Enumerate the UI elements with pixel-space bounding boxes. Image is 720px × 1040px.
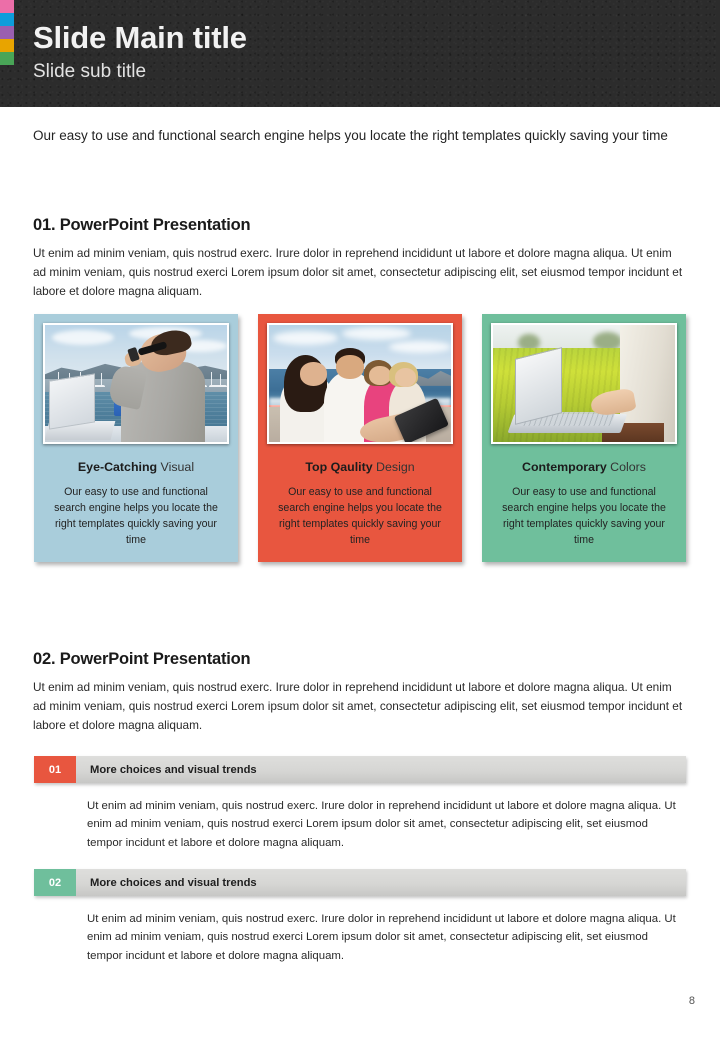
slide-sub-title: Slide sub title xyxy=(33,61,247,84)
list-item-body: Ut enim ad minim veniam, quis nostrud ex… xyxy=(87,910,685,965)
feature-card-description: Our easy to use and functional search en… xyxy=(491,484,677,548)
feature-card-description: Our easy to use and functional search en… xyxy=(267,484,453,548)
feature-card-title-strong: Eye-Catching xyxy=(78,460,157,474)
list-item-label: More choices and visual trends xyxy=(76,756,686,783)
intro-paragraph: Our easy to use and functional search en… xyxy=(33,126,688,147)
list-item-body: Ut enim ad minim veniam, quis nostrud ex… xyxy=(87,797,685,852)
header-text-block: Slide Main title Slide sub title xyxy=(33,20,247,83)
section-02-body: Ut enim ad minim veniam, quis nostrud ex… xyxy=(33,678,688,735)
swatch-pink-icon xyxy=(0,0,14,13)
swatch-green-icon xyxy=(0,52,14,65)
section-01-body: Ut enim ad minim veniam, quis nostrud ex… xyxy=(33,244,688,301)
page-number: 8 xyxy=(689,995,695,1007)
section-01-title: 01. PowerPoint Presentation xyxy=(33,216,688,235)
feature-card-top-quality[interactable]: Top Qaulity Design Our easy to use and f… xyxy=(258,314,462,562)
swatch-blue-icon xyxy=(0,13,14,26)
section-01: 01. PowerPoint Presentation Ut enim ad m… xyxy=(33,216,688,301)
list-item[interactable]: 01 More choices and visual trends Ut eni… xyxy=(34,756,686,852)
feature-card-title-strong: Top Qaulity xyxy=(305,460,372,474)
photo-man-on-phone-at-marina xyxy=(43,323,229,444)
list-item[interactable]: 02 More choices and visual trends Ut eni… xyxy=(34,869,686,965)
feature-card-title-light: Design xyxy=(373,460,415,474)
list-item-number-badge: 01 xyxy=(34,756,76,783)
slide-main-title: Slide Main title xyxy=(33,20,247,57)
list-item-label: More choices and visual trends xyxy=(76,869,686,896)
color-swatch-strip xyxy=(0,0,14,65)
feature-card-title: Eye-Catching Visual xyxy=(43,460,229,474)
feature-card-description: Our easy to use and functional search en… xyxy=(43,484,229,548)
feature-card-title-light: Colors xyxy=(607,460,646,474)
list-item-bar-02[interactable]: 02 More choices and visual trends xyxy=(34,869,686,896)
list-item-number-badge: 02 xyxy=(34,869,76,896)
swatch-amber-icon xyxy=(0,39,14,52)
section-02: 02. PowerPoint Presentation Ut enim ad m… xyxy=(33,650,688,735)
swatch-purple-icon xyxy=(0,26,14,39)
slide-header: Slide Main title Slide sub title xyxy=(0,0,720,107)
list-item-bar-01[interactable]: 01 More choices and visual trends xyxy=(34,756,686,783)
feature-card-title: Contemporary Colors xyxy=(491,460,677,474)
feature-card-title-light: Visual xyxy=(157,460,194,474)
photo-friends-selfie-on-beach xyxy=(267,323,453,444)
feature-card-title-strong: Contemporary xyxy=(522,460,607,474)
feature-card-eye-catching[interactable]: Eye-Catching Visual Our easy to use and … xyxy=(34,314,238,562)
feature-card-title: Top Qaulity Design xyxy=(267,460,453,474)
feature-card-row: Eye-Catching Visual Our easy to use and … xyxy=(34,314,686,562)
section-02-title: 02. PowerPoint Presentation xyxy=(33,650,688,669)
photo-woman-typing-laptop-in-field xyxy=(491,323,677,444)
feature-card-contemporary[interactable]: Contemporary Colors Our easy to use and … xyxy=(482,314,686,562)
